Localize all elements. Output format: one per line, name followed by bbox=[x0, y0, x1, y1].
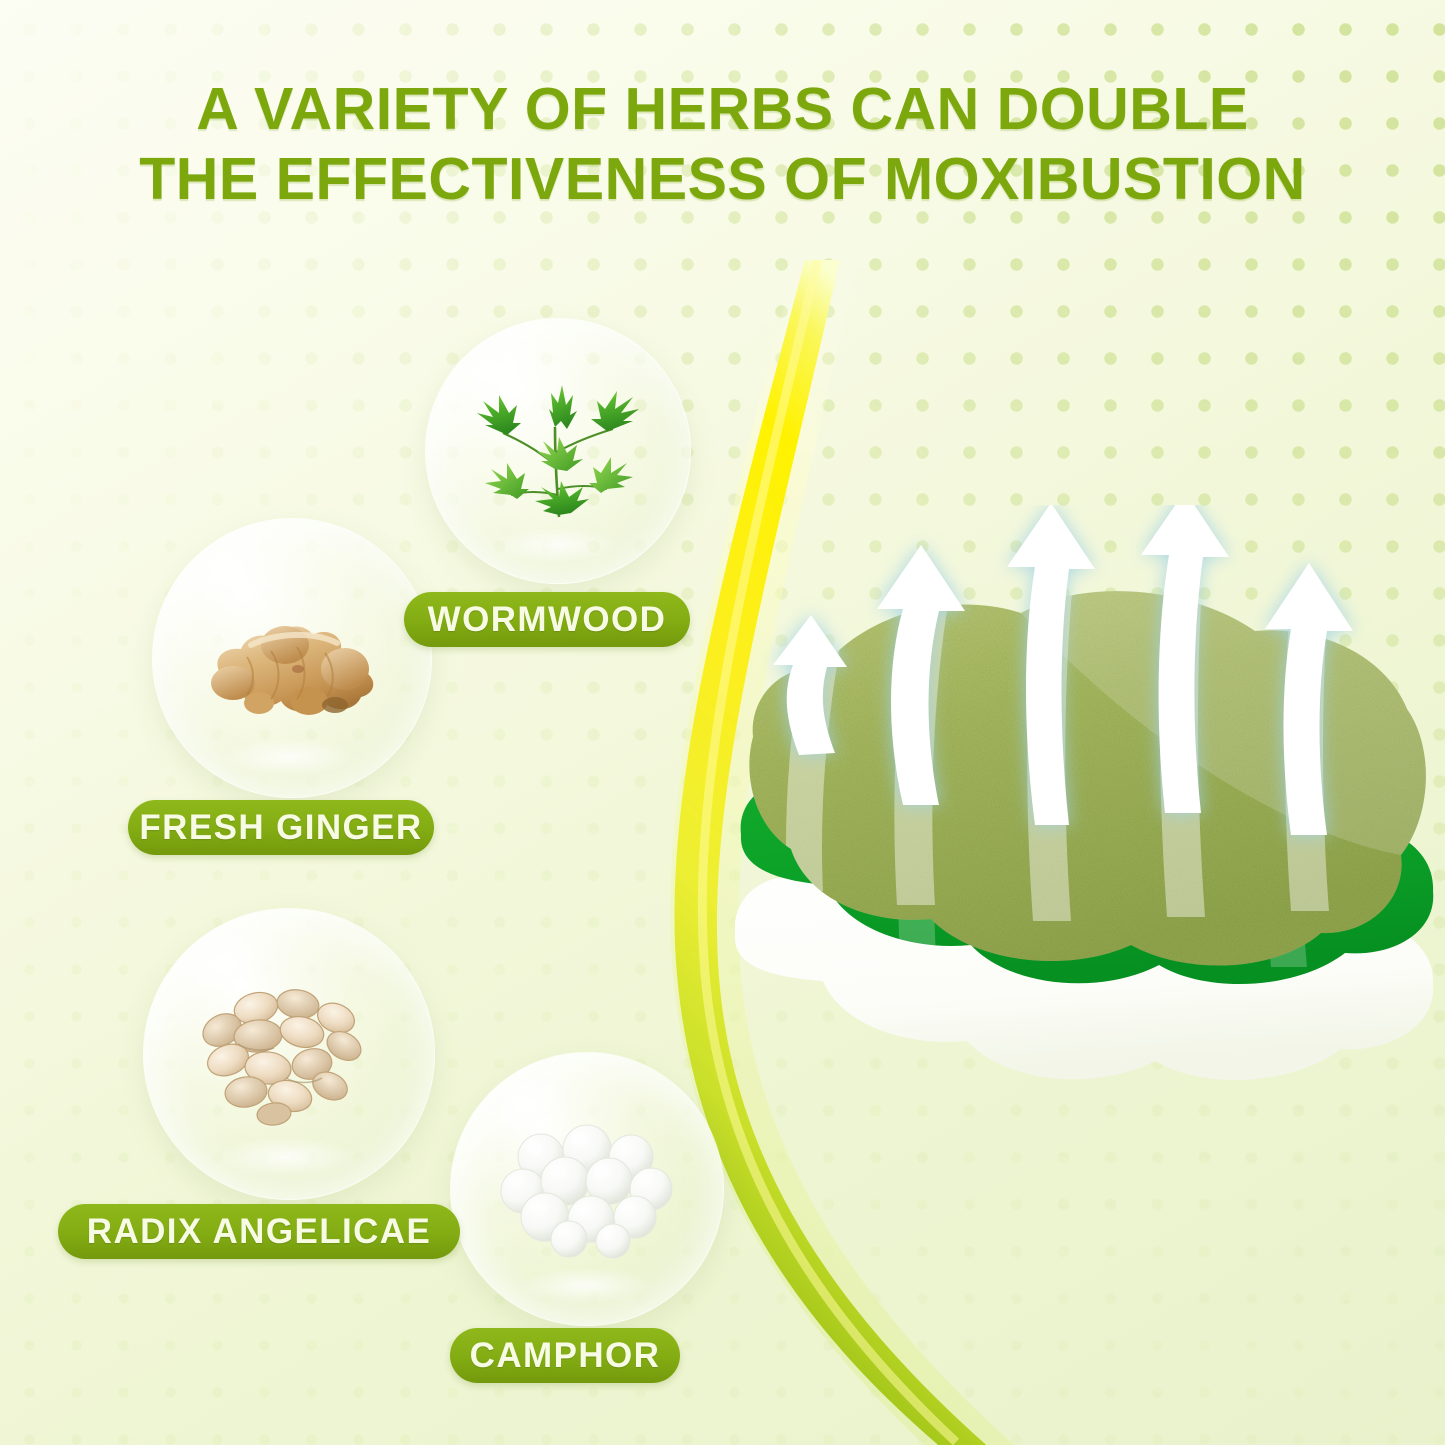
camphor-balls-icon bbox=[451, 1053, 723, 1325]
ingredient-label-text: RADIX ANGELICAE bbox=[87, 1212, 431, 1252]
poster-canvas: A VARIETY OF HERBS CAN DOUBLE THE EFFECT… bbox=[0, 0, 1445, 1445]
ingredient-bubble-fresh-ginger bbox=[152, 518, 432, 798]
ingredient-label-text: WORMWOOD bbox=[428, 600, 667, 640]
ingredient-bubble-wormwood bbox=[425, 318, 691, 584]
radix-angelicae-slices-icon bbox=[144, 909, 434, 1199]
moxibustion-patch-illustration bbox=[735, 505, 1445, 1125]
ingredient-bubble-radix-angelicae bbox=[143, 908, 435, 1200]
wormwood-leaf-icon bbox=[426, 319, 690, 583]
ingredient-label-wormwood: WORMWOOD bbox=[404, 592, 690, 647]
ingredient-label-radix-angelicae: RADIX ANGELICAE bbox=[58, 1204, 460, 1259]
ingredient-label-text: FRESH GINGER bbox=[139, 808, 422, 848]
ingredient-label-camphor: CAMPHOR bbox=[450, 1328, 680, 1383]
ginger-root-icon bbox=[153, 519, 431, 797]
title-line-1: A VARIETY OF HERBS CAN DOUBLE bbox=[0, 74, 1445, 144]
title-line-2: THE EFFECTIVENESS OF MOXIBUSTION bbox=[0, 144, 1445, 214]
poster-title: A VARIETY OF HERBS CAN DOUBLE THE EFFECT… bbox=[0, 74, 1445, 214]
ingredient-label-fresh-ginger: FRESH GINGER bbox=[128, 800, 434, 855]
ingredient-bubble-camphor bbox=[450, 1052, 724, 1326]
ingredient-label-text: CAMPHOR bbox=[470, 1336, 661, 1376]
